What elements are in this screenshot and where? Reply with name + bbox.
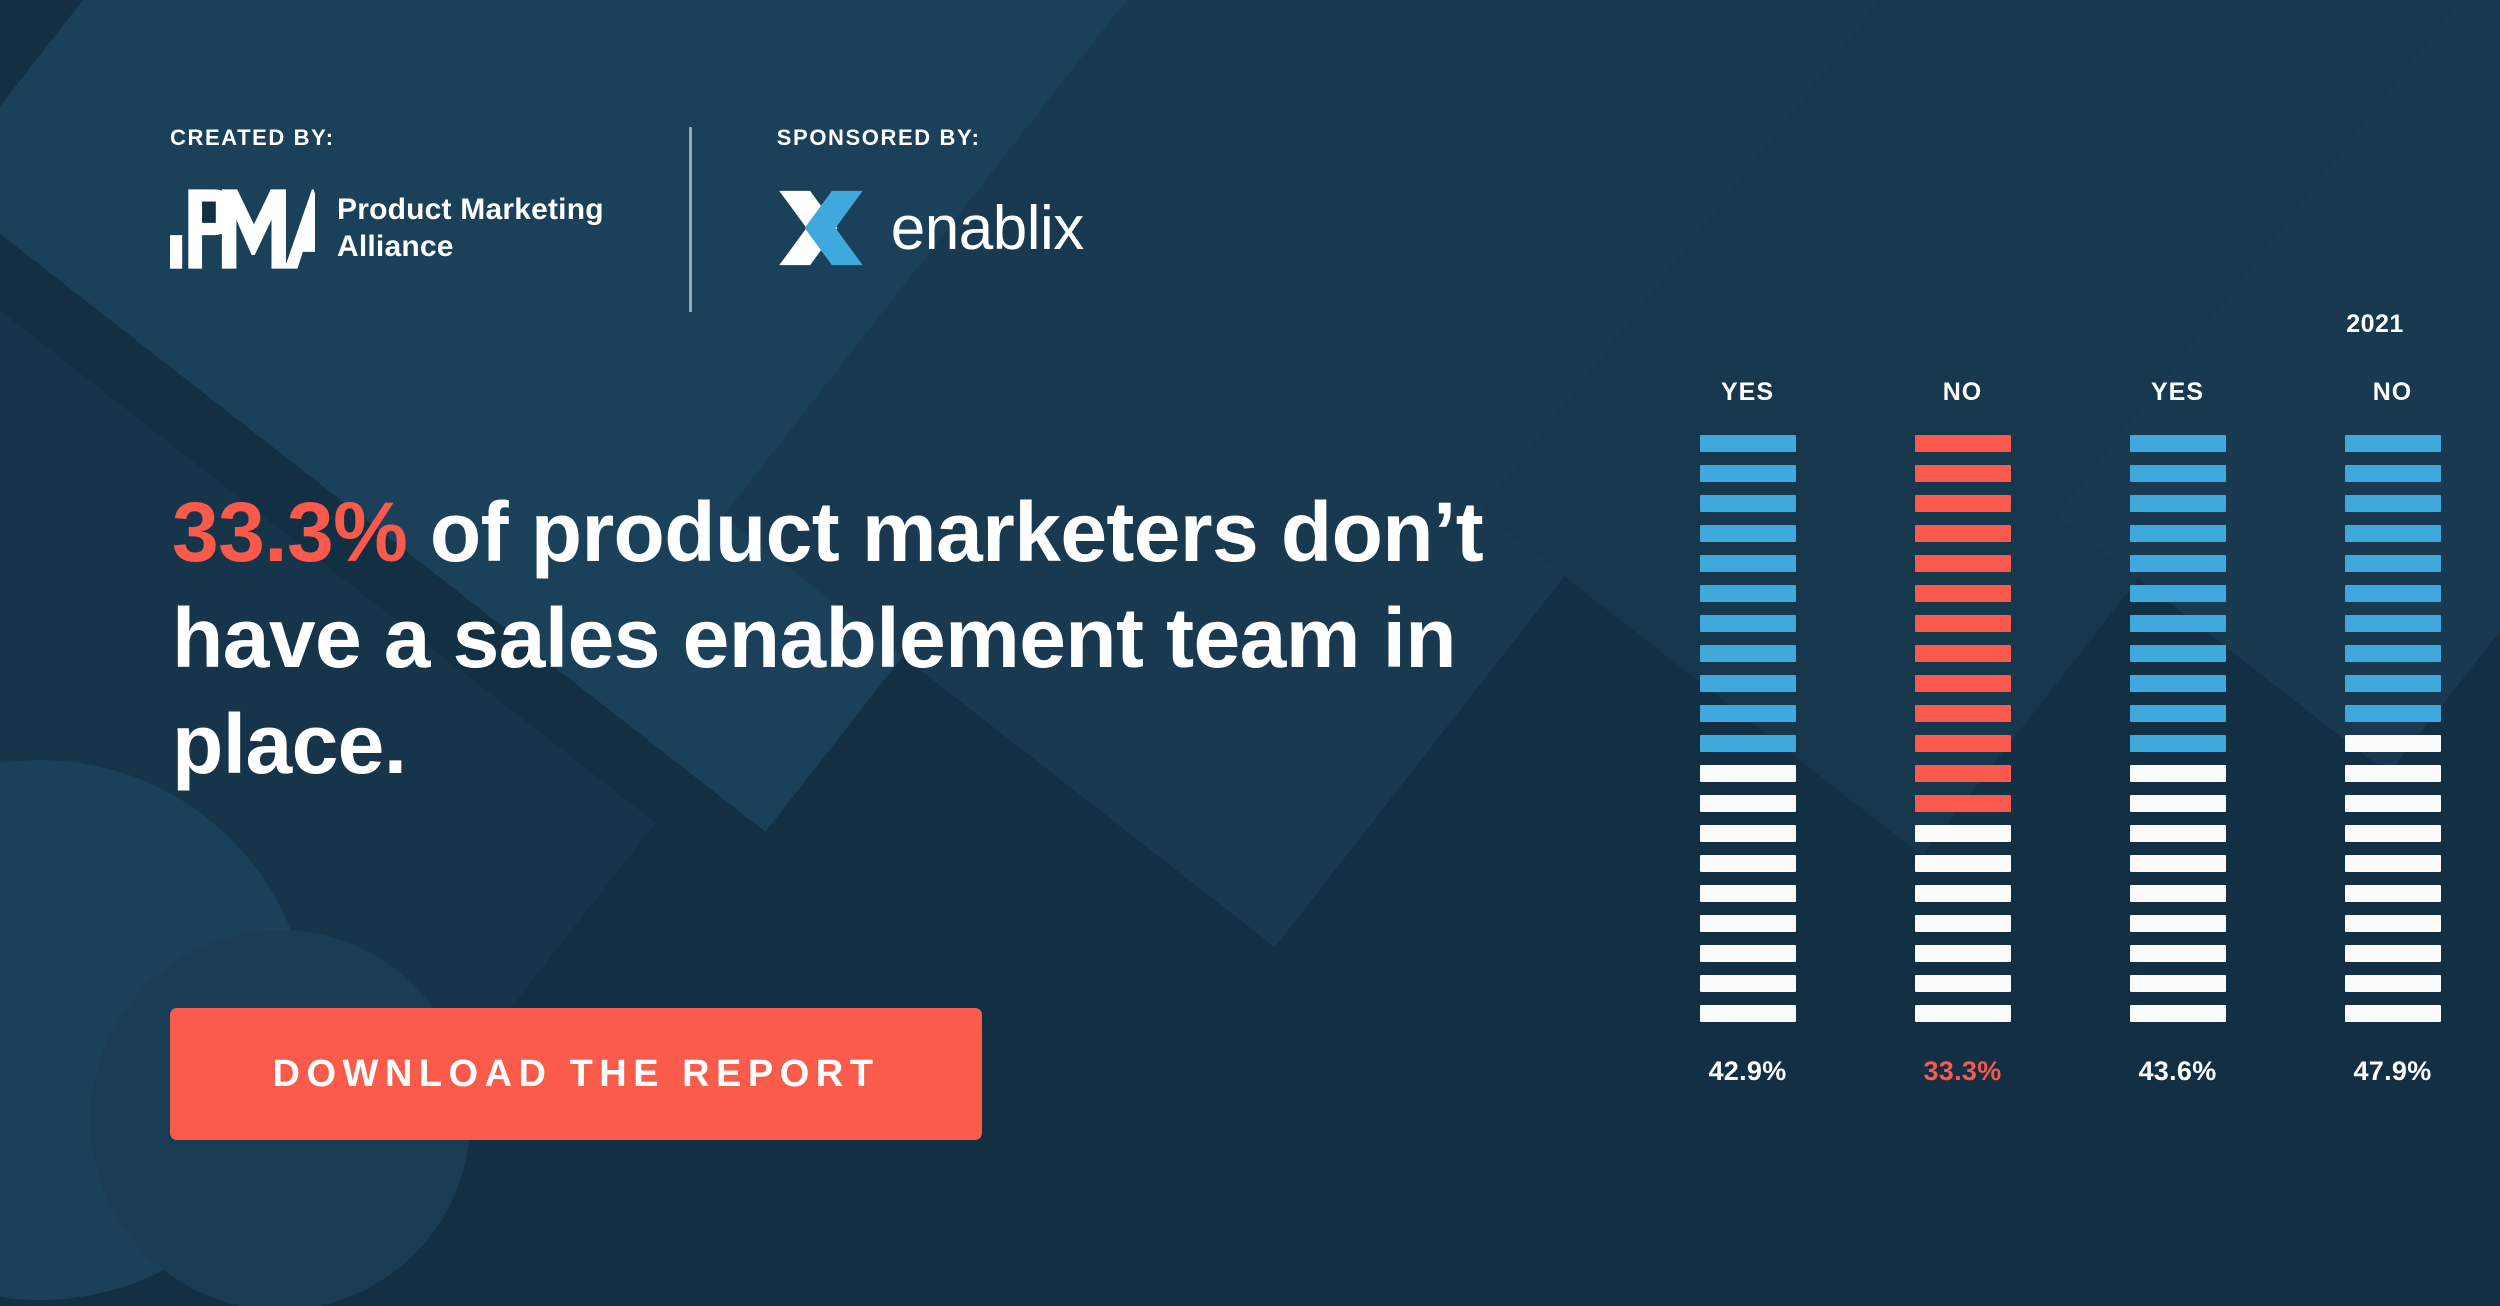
bar-segment-filled [2345, 645, 2441, 662]
enablix-x-mark-icon [777, 189, 865, 267]
bar-segment-filled [2130, 675, 2226, 692]
bar-segment-filled [2345, 615, 2441, 632]
bar-segment-filled [1700, 435, 1796, 452]
bar-segment-empty [2130, 855, 2226, 872]
bar-segment-filled [1700, 525, 1796, 542]
bar-segment-empty [2345, 1005, 2441, 1022]
bar-segment-empty [2345, 915, 2441, 932]
bar-segment-filled [2345, 435, 2441, 452]
column-value-label: 47.9% [2353, 1056, 2431, 1087]
pma-monogram-icon [170, 189, 315, 269]
bar-segment-filled [1915, 705, 2011, 722]
enablix-wordmark: enablix [891, 193, 1084, 264]
bar-segment-empty [1915, 1005, 2011, 1022]
download-the-report-button[interactable]: DOWNLOAD THE REPORT [170, 1008, 982, 1140]
chart-column: NO47.9% [2285, 378, 2500, 1087]
column-value-label: 33.3% [1923, 1056, 2001, 1087]
pma-logo-text: Product Marketing Alliance [337, 192, 604, 265]
bar-segment-empty [2345, 975, 2441, 992]
bar-segment-filled [2130, 615, 2226, 632]
bar-segment-empty [1915, 915, 2011, 932]
column-header: NO [1943, 378, 1983, 407]
bar-segment-filled [1700, 555, 1796, 572]
bar-segment-filled [2345, 525, 2441, 542]
bar-segment-filled [2130, 705, 2226, 722]
bar-segment-empty [1700, 795, 1796, 812]
bar-segment-filled [1915, 495, 2011, 512]
bar-segment-filled [2130, 585, 2226, 602]
bar-segment-empty [2345, 735, 2441, 752]
bar-segment-empty [1700, 855, 1796, 872]
bar-segment-filled [1700, 585, 1796, 602]
segmented-bar [1700, 435, 1796, 1022]
created-by-label: CREATED BY: [170, 125, 604, 151]
bar-segment-empty [2130, 825, 2226, 842]
segmented-bar-chart: 2021 2020 YES42.9%NO33.3%YES43.6%NO47.9% [1640, 0, 2500, 1306]
bar-segment-filled [2345, 555, 2441, 572]
bar-segment-filled [1915, 585, 2011, 602]
bar-segment-empty [1700, 945, 1796, 962]
bar-segment-filled [2130, 555, 2226, 572]
credits-row: CREATED BY: Product Marketing Alliance [170, 125, 1084, 312]
chart-column: YES43.6% [2070, 378, 2285, 1087]
segmented-bar [2130, 435, 2226, 1022]
bar-segment-filled [1915, 525, 2011, 542]
bar-segment-empty [2130, 945, 2226, 962]
year-labels: 2021 2020 [1640, 310, 2500, 350]
bar-segment-empty [1915, 975, 2011, 992]
page-title: 33.3% of product marketers don’t have a … [172, 480, 1592, 797]
column-header: YES [2151, 378, 2204, 407]
pma-logo-text-line1: Product Marketing [337, 193, 604, 226]
bar-segment-filled [1700, 675, 1796, 692]
bar-segment-filled [1700, 735, 1796, 752]
sponsored-by-block: SPONSORED BY: enablix [777, 125, 1084, 267]
bar-segment-empty [1700, 885, 1796, 902]
bar-segment-empty [1700, 1005, 1796, 1022]
segmented-bar [2345, 435, 2441, 1022]
bar-segment-filled [1915, 555, 2011, 572]
bar-segment-filled [2130, 645, 2226, 662]
bar-segment-filled [2345, 585, 2441, 602]
bar-segment-filled [1700, 705, 1796, 722]
chart-column: YES42.9% [1640, 378, 1855, 1087]
bar-segment-empty [1700, 915, 1796, 932]
pma-logo: Product Marketing Alliance [170, 189, 604, 269]
bar-segment-empty [2130, 1005, 2226, 1022]
vertical-divider [689, 127, 692, 312]
bar-segment-empty [2345, 945, 2441, 962]
bar-segment-empty [1700, 825, 1796, 842]
bar-segment-empty [1915, 825, 2011, 842]
pma-logo-text-line2: Alliance [337, 230, 454, 263]
bar-segment-filled [1915, 675, 2011, 692]
bar-segment-empty [1915, 855, 2011, 872]
bar-segment-empty [2345, 765, 2441, 782]
bar-segment-filled [1700, 465, 1796, 482]
bar-segment-empty [1700, 975, 1796, 992]
sponsored-by-label: SPONSORED BY: [777, 125, 1084, 151]
bar-segment-filled [1700, 495, 1796, 512]
bar-segment-empty [2345, 795, 2441, 812]
headline-stat: 33.3% [172, 485, 407, 579]
bar-segment-filled [1915, 435, 2011, 452]
bar-segment-empty [2130, 915, 2226, 932]
bar-segment-filled [2345, 495, 2441, 512]
bar-segment-filled [1915, 765, 2011, 782]
enablix-logo: enablix [777, 189, 1084, 267]
bar-segment-filled [1700, 645, 1796, 662]
left-panel: CREATED BY: Product Marketing Alliance [0, 0, 1620, 1306]
bar-segment-filled [2130, 495, 2226, 512]
bar-segment-empty [2130, 975, 2226, 992]
bar-segment-filled [1700, 615, 1796, 632]
bar-segment-empty [2345, 825, 2441, 842]
bar-segment-empty [1915, 945, 2011, 962]
bar-segment-filled [1915, 645, 2011, 662]
bar-segment-filled [2345, 465, 2441, 482]
bar-segment-empty [1915, 885, 2011, 902]
column-value-label: 43.6% [2138, 1056, 2216, 1087]
bar-segment-empty [2345, 885, 2441, 902]
column-header: YES [1721, 378, 1774, 407]
bar-segment-empty [2130, 765, 2226, 782]
chart-columns: YES42.9%NO33.3%YES43.6%NO47.9% [1640, 378, 2500, 1087]
created-by-block: CREATED BY: Product Marketing Alliance [170, 125, 604, 269]
bar-segment-filled [1915, 615, 2011, 632]
bar-segment-filled [2345, 705, 2441, 722]
bar-segment-empty [2130, 885, 2226, 902]
bar-segment-filled [1915, 465, 2011, 482]
column-value-label: 42.9% [1708, 1056, 1786, 1087]
segmented-bar [1915, 435, 2011, 1022]
chart-column: NO33.3% [1855, 378, 2070, 1087]
bar-segment-filled [1915, 795, 2011, 812]
bar-segment-empty [1700, 765, 1796, 782]
bar-segment-filled [2130, 735, 2226, 752]
group-label-2021: 2021 [2265, 310, 2485, 339]
bar-segment-empty [2130, 795, 2226, 812]
bar-segment-filled [2345, 675, 2441, 692]
bar-segment-filled [2130, 435, 2226, 452]
bar-segment-empty [2345, 855, 2441, 872]
column-header: NO [2373, 378, 2413, 407]
bar-segment-filled [2130, 525, 2226, 542]
bar-segment-filled [2130, 465, 2226, 482]
bar-segment-filled [1915, 735, 2011, 752]
